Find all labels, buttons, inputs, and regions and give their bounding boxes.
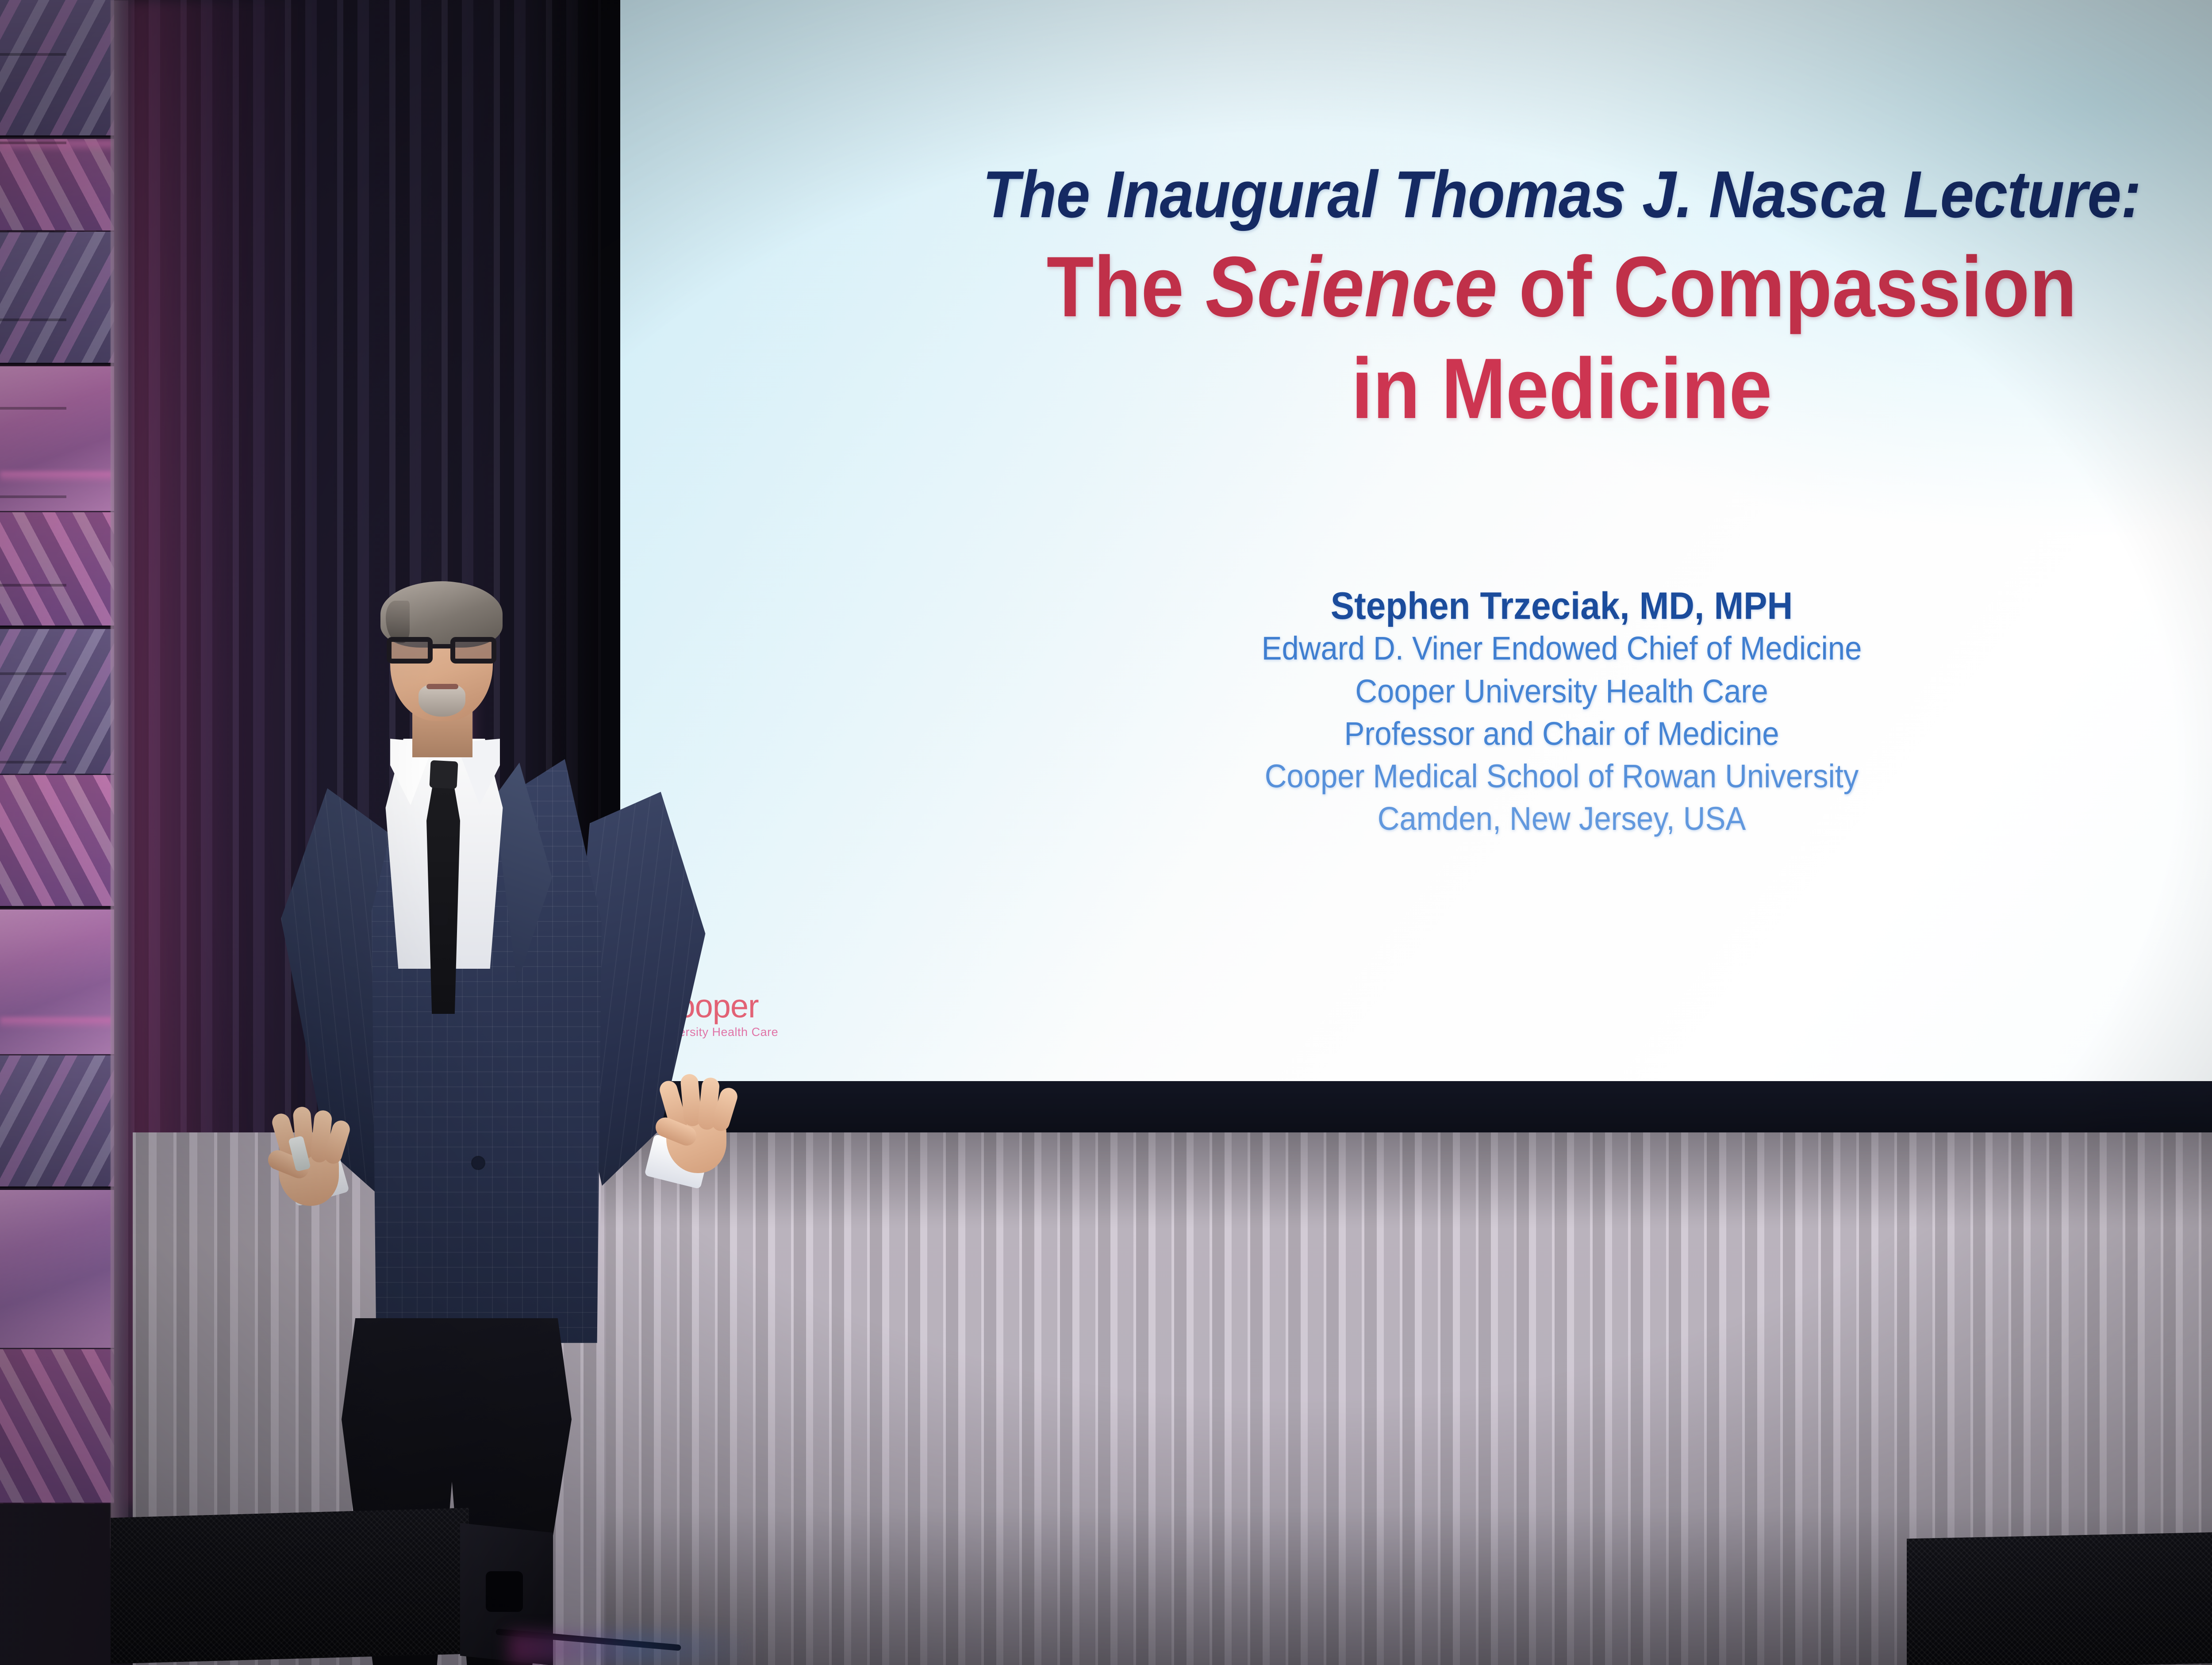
presenter bbox=[248, 593, 770, 1665]
monitor-handle-port bbox=[486, 1571, 523, 1612]
title-pre: The bbox=[1047, 239, 1206, 335]
screen-lower-band bbox=[601, 1081, 2212, 1135]
mouth bbox=[426, 684, 458, 689]
speaker-affiliation-1: Edward D. Viner Endowed Chief of Medicin… bbox=[686, 627, 2212, 670]
speaker-affiliation-2: Cooper University Health Care bbox=[686, 670, 2212, 713]
suit-jacket bbox=[287, 759, 733, 1352]
presentation-slide: The Inaugural Thomas J. Nasca Lecture: T… bbox=[620, 0, 2212, 1081]
right-hand bbox=[654, 1076, 756, 1186]
speaker-name: Stephen Trzeciak, MD, MPH bbox=[686, 585, 2212, 627]
left-hand bbox=[266, 1109, 355, 1210]
stage-monitor-right bbox=[1907, 1529, 2212, 1665]
floor-light-glow bbox=[509, 1632, 757, 1665]
glasses-bridge bbox=[433, 644, 451, 648]
decorative-led-wall bbox=[0, 0, 114, 1504]
necktie-knot bbox=[429, 760, 458, 789]
title-post: of Compassion bbox=[1498, 239, 2077, 335]
speaker-affiliation-5: Camden, New Jersey, USA bbox=[686, 798, 2212, 840]
stage-monitor-left bbox=[111, 1508, 469, 1664]
slide-title-line-3: in Medicine bbox=[714, 346, 2212, 432]
slide-speaker-block: Stephen Trzeciak, MD, MPH Edward D. Vine… bbox=[620, 585, 2212, 840]
necktie bbox=[426, 766, 460, 1014]
speaker-affiliation-4: Cooper Medical School of Rowan Universit… bbox=[686, 755, 2212, 798]
lens-left bbox=[387, 637, 433, 664]
speaker-grille bbox=[1907, 1529, 2212, 1665]
eyeglasses-icon bbox=[386, 637, 497, 664]
title-italic-science: Science bbox=[1206, 239, 1498, 335]
projection-screen: The Inaugural Thomas J. Nasca Lecture: T… bbox=[620, 0, 2212, 1081]
slide-title-line-2: The Science of Compassion bbox=[714, 244, 2212, 330]
speaker-grille bbox=[111, 1508, 469, 1664]
conference-stage-photo: The Inaugural Thomas J. Nasca Lecture: T… bbox=[0, 0, 2212, 1665]
jacket-button bbox=[472, 1157, 484, 1169]
stage-truss bbox=[0, 53, 66, 805]
lens-right bbox=[450, 637, 496, 664]
slide-title-line-1: The Inaugural Thomas J. Nasca Lecture: bbox=[695, 161, 2212, 227]
lapel-microphone-icon bbox=[433, 905, 448, 925]
speaker-affiliation-3: Professor and Chair of Medicine bbox=[686, 713, 2212, 755]
